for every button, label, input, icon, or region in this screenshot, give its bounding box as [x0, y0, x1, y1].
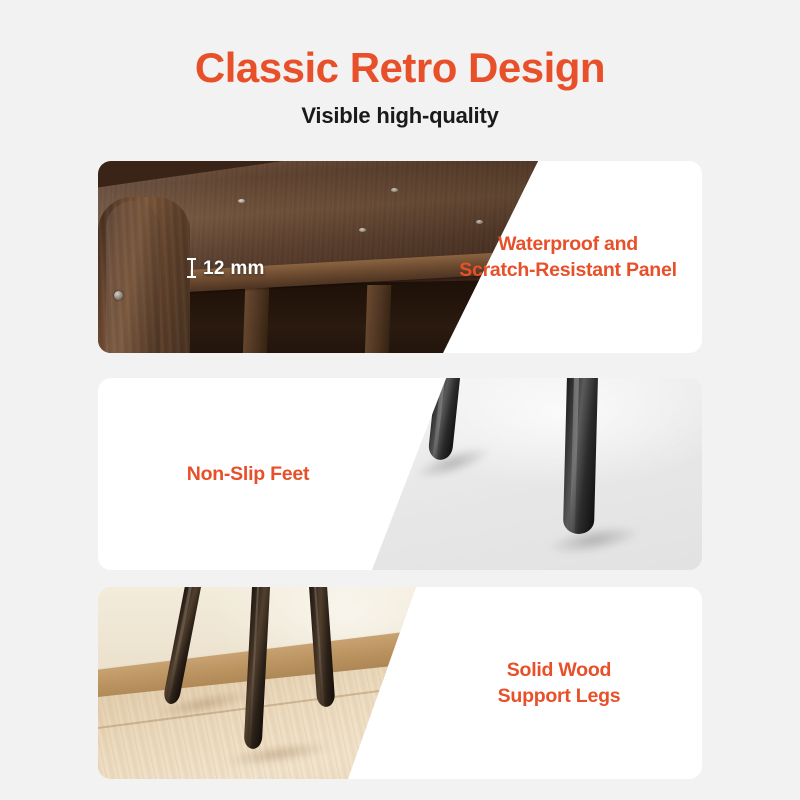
feature-image-solid-wood-legs	[98, 587, 416, 779]
feature-card-waterproof-panel: 12 mm Waterproof and Scratch-Resistant P…	[98, 161, 702, 353]
infographic-page: Classic Retro Design Visible high-qualit…	[0, 0, 800, 800]
shelf-divider	[365, 285, 392, 353]
feature-text-non-slip-feet: Non-Slip Feet	[98, 378, 398, 570]
page-title: Classic Retro Design	[0, 44, 800, 91]
feature-label-line-2: Support Legs	[498, 685, 621, 707]
thickness-value: 12 mm	[203, 259, 265, 278]
screw-hole-icon	[238, 199, 245, 203]
rounded-side-panel	[98, 197, 190, 353]
feature-label: Non-Slip Feet	[187, 461, 309, 487]
feature-label-line-1: Waterproof and	[498, 233, 638, 255]
page-header: Classic Retro Design Visible high-qualit…	[0, 44, 800, 128]
measurement-bracket-icon	[187, 258, 196, 278]
feature-label-line-2: Scratch-Resistant Panel	[459, 259, 677, 281]
feature-label-line-1: Solid Wood	[507, 659, 611, 681]
feature-text-waterproof-panel: Waterproof and Scratch-Resistant Panel	[434, 161, 702, 353]
feature-label-line-1: Non-Slip Feet	[187, 463, 309, 485]
feature-text-solid-wood-legs: Solid Wood Support Legs	[416, 587, 702, 779]
feature-card-solid-wood-legs: Solid Wood Support Legs	[98, 587, 702, 779]
screw-hole-icon	[391, 188, 398, 192]
feature-image-non-slip-feet	[372, 378, 702, 570]
shelf-divider	[243, 285, 270, 353]
feature-label: Solid Wood Support Legs	[498, 657, 621, 710]
thickness-callout: 12 mm	[187, 258, 265, 278]
page-subtitle: Visible high-quality	[0, 104, 800, 128]
furniture-leg	[563, 378, 598, 534]
feature-card-non-slip-feet: Non-Slip Feet	[98, 378, 702, 570]
screw-cap-icon	[114, 291, 123, 300]
feature-label: Waterproof and Scratch-Resistant Panel	[459, 231, 677, 284]
screw-hole-icon	[359, 228, 366, 232]
